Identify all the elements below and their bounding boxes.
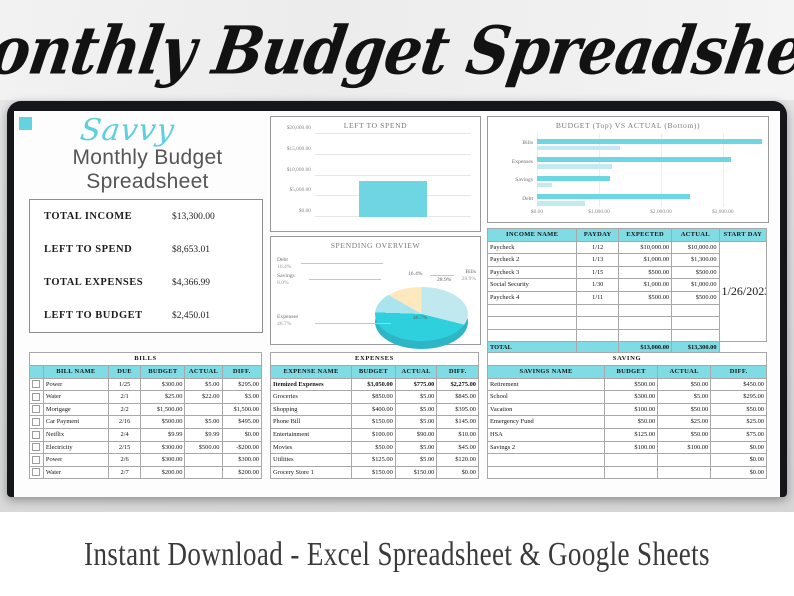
cell-budget[interactable]: $125.00 xyxy=(352,454,396,467)
table-row: Power1/25$300.00$5.00$295.00 xyxy=(30,378,262,391)
cell-budget[interactable] xyxy=(605,466,658,479)
cell-due[interactable]: 2/7 xyxy=(108,466,140,479)
summary-value: $13,300.00 xyxy=(162,212,258,222)
table-row: Mortgage2/2$1,500.00$1,500.00 xyxy=(30,403,262,416)
cell-budget[interactable]: $9.99 xyxy=(141,428,185,441)
cell-actual[interactable]: $150.00 xyxy=(395,466,437,479)
cell-diff: $295.00 xyxy=(711,391,767,404)
cell-diff: $450.00 xyxy=(711,378,767,391)
cat-label-savings: Savings xyxy=(515,177,533,183)
bar-actual-savings xyxy=(537,183,552,188)
table-header-row: EXPENSE NAME BUDGET ACTUAL DIFF. xyxy=(271,366,479,379)
cell-diff: $10.00 xyxy=(437,428,479,441)
col-bill-name: BILL NAME xyxy=(43,366,108,379)
cell-budget[interactable]: $100.00 xyxy=(352,428,396,441)
cell-diff: -$200.00 xyxy=(222,441,261,454)
cell-actual[interactable]: $5.00 xyxy=(185,378,222,391)
cell-budget[interactable]: $100.00 xyxy=(605,403,658,416)
cell-actual[interactable]: $1,000.00 xyxy=(672,279,719,292)
cell-actual[interactable]: $5.00 xyxy=(658,391,711,404)
cell-actual[interactable]: $5.00 xyxy=(395,391,437,404)
bar-budget-bills xyxy=(537,139,762,144)
cell-diff: $145.00 xyxy=(437,416,479,429)
cell-budget[interactable]: $1,500.00 xyxy=(141,403,185,416)
summary-value: $4,366.99 xyxy=(162,278,258,288)
cell-diff: $2,275.00 xyxy=(437,378,479,391)
cell-budget[interactable] xyxy=(605,454,658,467)
bar-actual-bills xyxy=(537,146,620,151)
cell-name[interactable]: HSA xyxy=(488,428,605,441)
cell-diff: $395.00 xyxy=(437,403,479,416)
cell-diff: $0.00 xyxy=(437,466,479,479)
cell-diff: $0.00 xyxy=(222,428,261,441)
table-row: Phone Bill$150.00$5.00$145.00 xyxy=(271,416,479,429)
checkbox-icon[interactable] xyxy=(32,443,40,451)
cell-budget[interactable]: $500.00 xyxy=(605,378,658,391)
cell-expected[interactable] xyxy=(619,304,672,317)
col-expense-name: EXPENSE NAME xyxy=(271,366,352,379)
cell-expected[interactable]: $500.00 xyxy=(619,291,672,304)
cell-actual[interactable] xyxy=(658,454,711,467)
table-row: Grocery Store 1$150.00$150.00$0.00 xyxy=(271,466,479,479)
cell-payday[interactable] xyxy=(577,317,619,330)
col-expected: EXPECTED xyxy=(619,229,672,242)
cell-budget[interactable]: $150.00 xyxy=(352,466,396,479)
cell-expected[interactable]: $10,000.00 xyxy=(619,241,672,254)
cell-name[interactable]: Emergency Fund xyxy=(488,416,605,429)
table-row: $0.00 xyxy=(488,466,767,479)
cell-name[interactable]: Itemized Expenses xyxy=(271,378,352,391)
cell-name[interactable]: Vacation xyxy=(488,403,605,416)
cell-actual[interactable]: $50.00 xyxy=(658,428,711,441)
cell-name[interactable]: Car Payment xyxy=(43,416,108,429)
cell-start-day[interactable]: 1/26/2023 xyxy=(719,241,766,342)
x-tick-label: $0.00 xyxy=(531,209,543,215)
cell-actual[interactable] xyxy=(185,454,222,467)
table-row: Water2/1$25.00$22.00$3.00 xyxy=(30,391,262,404)
cell-diff: $75.00 xyxy=(711,428,767,441)
y-tick-label: $0.00 xyxy=(299,208,311,214)
table-title: EXPENSES xyxy=(271,353,479,366)
cell-name[interactable]: Utilities xyxy=(271,454,352,467)
cell-actual[interactable]: $22.00 xyxy=(185,391,222,404)
cell-due[interactable]: 2/1 xyxy=(108,391,140,404)
cell-due[interactable]: 2/16 xyxy=(108,416,140,429)
bar-budget-savings xyxy=(537,176,610,181)
table-row: Shopping$400.00$5.00$395.00 xyxy=(271,403,479,416)
checkbox-icon[interactable] xyxy=(32,456,40,464)
table-row: $0.00 xyxy=(488,454,767,467)
col-diff: DIFF. xyxy=(222,366,261,379)
cell-name[interactable]: Mortgage xyxy=(43,403,108,416)
checkbox-icon[interactable] xyxy=(32,405,40,413)
cell-budget[interactable]: $125.00 xyxy=(605,428,658,441)
brand-subtitle-line2: Spreadsheet xyxy=(40,171,255,194)
pie-label-debt: Debt16.4% xyxy=(277,257,291,271)
pie-value-expenses: 46.7% xyxy=(413,315,427,321)
row-checkbox[interactable] xyxy=(30,403,44,416)
table-row: Movies$50.00$5.00$45.00 xyxy=(271,441,479,454)
col-payday: PAYDAY xyxy=(577,229,619,242)
cell-actual[interactable]: $100.00 xyxy=(658,441,711,454)
summary-row-left-to-spend: LEFT TO SPEND $8,653.01 xyxy=(30,233,262,266)
cell-due[interactable]: 2/6 xyxy=(108,454,140,467)
col-diff: DIFF. xyxy=(711,366,767,379)
cell-payday[interactable] xyxy=(577,329,619,342)
row-checkbox[interactable] xyxy=(30,391,44,404)
cell-name[interactable]: School xyxy=(488,391,605,404)
summary-row-total-income: TOTAL INCOME $13,300.00 xyxy=(30,200,262,233)
chart-plot-area: $0.00 $5,000.00 $10,000.00 $15,000.00 $2… xyxy=(315,134,471,217)
checkbox-icon[interactable] xyxy=(32,418,40,426)
cell-actual[interactable]: $25.00 xyxy=(658,416,711,429)
y-tick-label: $15,000.00 xyxy=(287,146,311,152)
table-row: School$300.00$5.00$295.00 xyxy=(488,391,767,404)
cell-diff: $45.00 xyxy=(437,441,479,454)
pie-label-savings: Savings8.0% xyxy=(277,273,295,287)
cell-name[interactable]: Water xyxy=(43,466,108,479)
col-actual: ACTUAL xyxy=(185,366,222,379)
x-tick-label: $3,000.00 xyxy=(712,209,734,215)
table-row: Savings 2$100.00$100.00$0.00 xyxy=(488,441,767,454)
cell-actual[interactable]: $50.00 xyxy=(658,378,711,391)
checkbox-icon[interactable] xyxy=(32,393,40,401)
cell-name[interactable]: Electricity xyxy=(43,441,108,454)
cell-diff: $300.00 xyxy=(222,454,261,467)
checkbox-icon[interactable] xyxy=(32,431,40,439)
cell-name[interactable]: Paycheck xyxy=(488,241,577,254)
promo-text: Instant Download - Excel Spreadsheet & G… xyxy=(84,535,710,574)
cell-diff: $295.00 xyxy=(222,378,261,391)
table-title: BILLS xyxy=(30,353,262,366)
cat-label-expenses: Expenses xyxy=(512,159,533,165)
brand-subtitle-line1: Monthly Budget xyxy=(40,147,255,170)
summary-row-total-expenses: TOTAL EXPENSES $4,366.99 xyxy=(30,266,262,299)
x-tick-label: $2,000.00 xyxy=(650,209,672,215)
cell-diff: $25.00 xyxy=(711,416,767,429)
cat-label-debt: Debt xyxy=(522,196,533,202)
cell-diff: $0.00 xyxy=(711,441,767,454)
cell-diff: $0.00 xyxy=(711,454,767,467)
cell-name[interactable]: Paycheck 4 xyxy=(488,291,577,304)
cell-name[interactable] xyxy=(488,304,577,317)
col-diff: DIFF. xyxy=(437,366,479,379)
cell-expected[interactable]: $1,000.00 xyxy=(619,254,672,267)
cell-actual[interactable]: $500.00 xyxy=(185,441,222,454)
col-budget: BUDGET xyxy=(605,366,658,379)
bar-actual-expenses xyxy=(537,164,612,169)
cell-actual[interactable]: $90.00 xyxy=(395,428,437,441)
product-listing-image: Monthly Budget Spreadsheet Savvy Monthly… xyxy=(0,0,794,596)
table-row: Itemized Expenses$3,050.00$775.00$2,275.… xyxy=(271,378,479,391)
row-checkbox[interactable] xyxy=(30,378,44,391)
pie-value-debt: 16.4% xyxy=(408,271,422,277)
cell-actual[interactable]: $500.00 xyxy=(672,266,719,279)
top-title-banner: Monthly Budget Spreadsheet xyxy=(0,0,794,100)
cell-name[interactable]: Paycheck 3 xyxy=(488,266,577,279)
cell-actual[interactable]: $500.00 xyxy=(672,291,719,304)
cell-payday[interactable]: 1/15 xyxy=(577,266,619,279)
cell-actual[interactable]: $5.00 xyxy=(395,441,437,454)
cell-name[interactable]: Water xyxy=(43,391,108,404)
cell-actual[interactable]: $1,300.00 xyxy=(672,254,719,267)
summary-value: $2,450.01 xyxy=(162,311,258,321)
chart-plot-area: Bills Expenses Savings Debt $0.00 $1,000… xyxy=(537,133,760,207)
cell-actual[interactable] xyxy=(658,466,711,479)
col-budget: BUDGET xyxy=(352,366,396,379)
cell-name[interactable]: Retirement xyxy=(488,378,605,391)
cell-budget: $3,050.00 xyxy=(352,378,396,391)
chart-title: SPENDING OVERVIEW xyxy=(271,237,480,250)
table-title-row: EXPENSES xyxy=(271,353,479,366)
col-budget: BUDGET xyxy=(141,366,185,379)
cell-name[interactable] xyxy=(488,317,577,330)
row-checkbox[interactable] xyxy=(30,466,44,479)
cell-payday[interactable]: 1/11 xyxy=(577,291,619,304)
table-row: Water2/7$200.00$200.00 xyxy=(30,466,262,479)
cell-actual[interactable]: $5.00 xyxy=(395,416,437,429)
cell-actual[interactable]: $5.00 xyxy=(185,416,222,429)
cell-due[interactable]: 1/25 xyxy=(108,378,140,391)
table-row: Emergency Fund$50.00$25.00$25.00 xyxy=(488,416,767,429)
y-tick-label: $10,000.00 xyxy=(287,167,311,173)
cell-budget[interactable]: $850.00 xyxy=(352,391,396,404)
cell-budget[interactable]: $150.00 xyxy=(352,416,396,429)
table-row: Retirement$500.00$50.00$450.00 xyxy=(488,378,767,391)
table-row: Groceries$850.00$5.00$845.00 xyxy=(271,391,479,404)
cell-budget[interactable]: $300.00 xyxy=(141,441,185,454)
col-checkbox xyxy=(30,366,44,379)
cell-budget[interactable]: $400.00 xyxy=(352,403,396,416)
pie-slices xyxy=(375,287,468,341)
x-tick-label: $1,000.00 xyxy=(588,209,610,215)
checkbox-icon[interactable] xyxy=(32,380,40,388)
cell-diff: $200.00 xyxy=(222,466,261,479)
cell-name[interactable]: Shopping xyxy=(271,403,352,416)
cell-name[interactable]: Movies xyxy=(271,441,352,454)
budget-vs-actual-chart: BUDGET (Top) VS ACTUAL (Bottom)) Bills E… xyxy=(487,116,769,223)
checkbox-icon[interactable] xyxy=(32,468,40,476)
bottom-promo-banner: Instant Download - Excel Spreadsheet & G… xyxy=(0,512,794,596)
col-actual: ACTUAL xyxy=(672,229,719,242)
cell-diff: $3.00 xyxy=(222,391,261,404)
cell-actual[interactable]: $9.99 xyxy=(185,428,222,441)
cell-due[interactable]: 2/4 xyxy=(108,428,140,441)
row-checkbox[interactable] xyxy=(30,416,44,429)
cell-budget[interactable]: $300.00 xyxy=(141,454,185,467)
table-header-row: SAVINGS NAME BUDGET ACTUAL DIFF. xyxy=(488,366,767,379)
col-actual: ACTUAL xyxy=(658,366,711,379)
cell-budget[interactable]: $200.00 xyxy=(141,466,185,479)
cell-diff: $50.00 xyxy=(711,403,767,416)
cell-budget[interactable]: $300.00 xyxy=(605,391,658,404)
table-row: Utilities$125.00$5.00$120.00 xyxy=(271,454,479,467)
y-tick-label: $20,000.00 xyxy=(287,125,311,131)
summary-label: TOTAL INCOME xyxy=(44,211,162,222)
cell-name[interactable]: Groceries xyxy=(271,391,352,404)
table-row: Netflix2/4$9.99$9.99$0.00 xyxy=(30,428,262,441)
cell-budget[interactable]: $50.00 xyxy=(605,416,658,429)
cell-name[interactable]: Grocery Store 1 xyxy=(271,466,352,479)
cell-budget[interactable]: $100.00 xyxy=(605,441,658,454)
cell-actual[interactable] xyxy=(185,403,222,416)
table-header-row: INCOME NAME PAYDAY EXPECTED ACTUAL START… xyxy=(488,229,767,242)
col-actual: ACTUAL xyxy=(395,366,437,379)
cell-expected[interactable] xyxy=(619,317,672,330)
col-income-name: INCOME NAME xyxy=(488,229,577,242)
cat-label-bills: Bills xyxy=(522,140,533,146)
cell-name[interactable]: Social Security xyxy=(488,279,577,292)
col-savings-name: SAVINGS NAME xyxy=(488,366,605,379)
cell-payday[interactable]: 1/30 xyxy=(577,279,619,292)
row-checkbox[interactable] xyxy=(30,454,44,467)
table-row: Power2/6$300.00$300.00 xyxy=(30,454,262,467)
brand-logo: Savvy Monthly Budget Spreadsheet xyxy=(40,116,255,198)
cell-actual[interactable] xyxy=(185,466,222,479)
cell-payday[interactable]: 1/13 xyxy=(577,254,619,267)
pie-value-bills: 28.9% xyxy=(437,277,451,283)
cell-name[interactable]: Savings 2 xyxy=(488,441,605,454)
cell-payday[interactable]: 1/12 xyxy=(577,241,619,254)
cell-actual[interactable] xyxy=(672,329,719,342)
bar-left-to-spend xyxy=(359,181,428,217)
table-row: Car Payment2/16$500.00$5.00$495.00 xyxy=(30,416,262,429)
cell-name[interactable]: Power xyxy=(43,378,108,391)
left-to-spend-chart: LEFT TO SPEND $0.00 $5,000.00 $10,000.00… xyxy=(270,116,481,232)
table-row: Paycheck1/12$10,000.00$10,000.001/26/202… xyxy=(488,241,767,254)
cell-diff: $120.00 xyxy=(437,454,479,467)
cell-budget[interactable]: $500.00 xyxy=(141,416,185,429)
cell-actual[interactable]: $50.00 xyxy=(658,403,711,416)
table-title-row: SAVING xyxy=(488,353,767,366)
row-checkbox[interactable] xyxy=(30,428,44,441)
table-row: Electricity2/15$300.00$500.00-$200.00 xyxy=(30,441,262,454)
cell-name[interactable]: Entertainment xyxy=(271,428,352,441)
cell-name[interactable] xyxy=(488,329,577,342)
table-title: SAVING xyxy=(488,353,767,366)
cell-name[interactable]: Power xyxy=(43,454,108,467)
bar-budget-expenses xyxy=(537,157,731,162)
cell-name[interactable]: Phone Bill xyxy=(271,416,352,429)
y-tick-label: $5,000.00 xyxy=(289,187,311,193)
table-header-row: BILL NAME DUE BUDGET ACTUAL DIFF. xyxy=(30,366,262,379)
table-row: Entertainment$100.00$90.00$10.00 xyxy=(271,428,479,441)
cell-diff: $0.00 xyxy=(711,466,767,479)
bar-actual-debt xyxy=(537,201,585,206)
summary-label: LEFT TO SPEND xyxy=(44,244,162,255)
bar-budget-debt xyxy=(537,194,690,199)
cell-name[interactable]: Netflix xyxy=(43,428,108,441)
summary-row-left-to-budget: LEFT TO BUDGET $2,450.01 xyxy=(30,299,262,332)
cell-budget[interactable]: $300.00 xyxy=(141,378,185,391)
cell-diff: $845.00 xyxy=(437,391,479,404)
expenses-table: EXPENSES EXPENSE NAME BUDGET ACTUAL DIFF… xyxy=(270,352,479,479)
cell-due[interactable]: 2/2 xyxy=(108,403,140,416)
cell-actual[interactable]: $10,000.00 xyxy=(672,241,719,254)
page-title: Monthly Budget Spreadsheet xyxy=(0,11,794,88)
cell-name[interactable] xyxy=(488,466,605,479)
cell-diff: $1,500.00 xyxy=(222,403,261,416)
brand-name: Savvy xyxy=(0,116,257,146)
cell-payday[interactable] xyxy=(577,304,619,317)
cell-name[interactable]: Paycheck 2 xyxy=(488,254,577,267)
col-start-day: START DAY xyxy=(719,229,766,242)
summary-label: TOTAL EXPENSES xyxy=(44,277,162,288)
summary-value: $8,653.01 xyxy=(162,245,258,255)
summary-panel: TOTAL INCOME $13,300.00 LEFT TO SPEND $8… xyxy=(29,199,263,333)
cell-actual[interactable] xyxy=(672,304,719,317)
pie-label-bills: Bills28.9% xyxy=(462,269,476,283)
saving-table: SAVING SAVINGS NAME BUDGET ACTUAL DIFF. … xyxy=(487,352,767,479)
pie-plot-area: Debt16.4% Savings8.0% Expenses46.7% Bill… xyxy=(271,251,480,343)
cell-budget[interactable]: $50.00 xyxy=(352,441,396,454)
table-title-row: BILLS xyxy=(30,353,262,366)
cell-expected[interactable]: $1,000.00 xyxy=(619,279,672,292)
cell-expected[interactable]: $500.00 xyxy=(619,266,672,279)
table-row: Vacation$100.00$50.00$50.00 xyxy=(488,403,767,416)
cell-due[interactable]: 2/15 xyxy=(108,441,140,454)
spending-overview-chart: SPENDING OVERVIEW Debt16.4% Savings8.0% … xyxy=(270,236,481,345)
cell-actual[interactable]: $5.00 xyxy=(395,454,437,467)
cell-expected[interactable] xyxy=(619,329,672,342)
cell-actual[interactable] xyxy=(672,317,719,330)
summary-label: LEFT TO BUDGET xyxy=(44,310,162,321)
col-due: DUE xyxy=(108,366,140,379)
pie-label-expenses: Expenses46.7% xyxy=(277,314,298,328)
chart-title: BUDGET (Top) VS ACTUAL (Bottom)) xyxy=(488,117,768,130)
table-row: HSA$125.00$50.00$75.00 xyxy=(488,428,767,441)
bills-table: BILLS BILL NAME DUE BUDGET ACTUAL DIFF. … xyxy=(29,352,262,479)
income-table: INCOME NAME PAYDAY EXPECTED ACTUAL START… xyxy=(487,228,767,355)
row-checkbox[interactable] xyxy=(30,441,44,454)
cell-diff: $495.00 xyxy=(222,416,261,429)
cell-actual[interactable]: $5.00 xyxy=(395,403,437,416)
cell-actual: $775.00 xyxy=(395,378,437,391)
cell-budget[interactable]: $25.00 xyxy=(141,391,185,404)
cell-name[interactable] xyxy=(488,454,605,467)
